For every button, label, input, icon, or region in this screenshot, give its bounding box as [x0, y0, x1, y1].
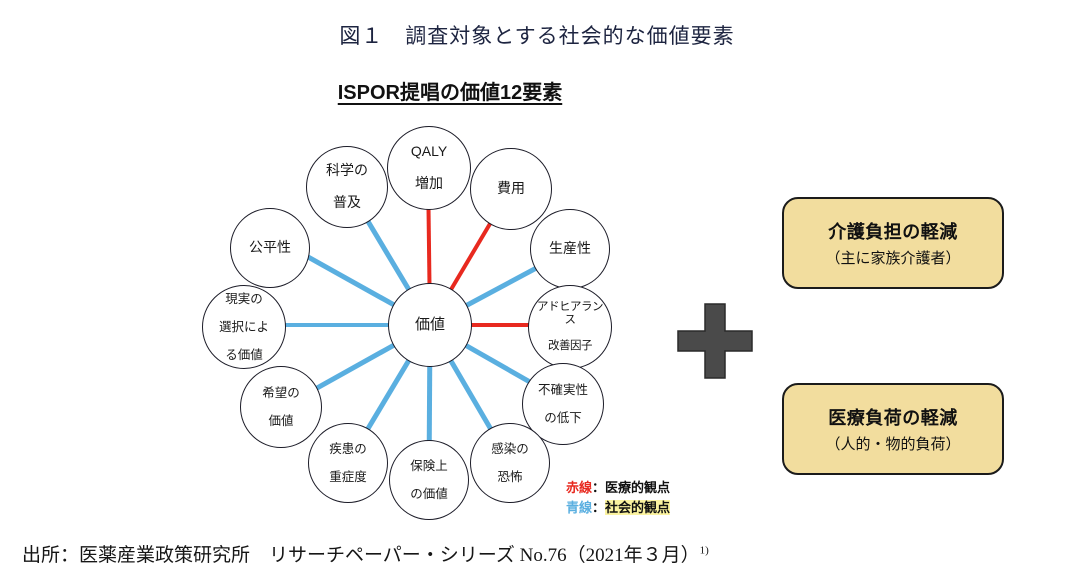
node-value[interactable]: 価値 [388, 283, 472, 367]
node-scientific-spillover[interactable]: 科学の普及 [306, 146, 388, 228]
legend-value-red: 医療的観点 [605, 480, 670, 495]
node-fear-of-infection[interactable]: 感染の恐怖 [470, 423, 550, 503]
legend-value-blue: 社会的観点 [605, 500, 670, 515]
node-disease-severity[interactable]: 疾患の重症度 [308, 423, 388, 503]
node-cost[interactable]: 費用 [470, 148, 552, 230]
node-real-option-value[interactable]: 現実の選択による価値 [202, 285, 286, 369]
node-qaly[interactable]: QALY増加 [387, 126, 471, 210]
benefit-box-medical-burden[interactable]: 医療負荷の軽減 （人的・物的負荷） [782, 383, 1004, 475]
legend-row-red: 赤線：医療的観点 [566, 478, 670, 498]
node-equity[interactable]: 公平性 [230, 208, 310, 288]
source-footnote-marker: 1) [700, 545, 709, 557]
source-note: 出所：医薬産業政策研究所 リサーチペーパー・シリーズ No.76（2021年３月… [22, 540, 709, 567]
source-text: 出所：医薬産業政策研究所 リサーチペーパー・シリーズ No.76（2021年３月… [22, 545, 700, 566]
benefit-subtitle-medical-burden: （人的・物的負荷） [825, 433, 960, 454]
node-adherence[interactable]: アドヒアランス改善因子 [528, 285, 612, 369]
node-value-of-hope[interactable]: 希望の価値 [240, 366, 322, 448]
value-network-diagram: 価値 QALY増加 費用 生産性 アドヒアランス改善因子 不確実性の低下 感染の… [180, 110, 660, 530]
node-insurance-value[interactable]: 保険上の価値 [389, 440, 469, 520]
benefit-title-caregiver: 介護負担の軽減 [828, 218, 958, 244]
benefit-title-medical-burden: 医療負荷の軽減 [828, 404, 958, 430]
benefit-subtitle-caregiver: （主に家族介護者） [825, 247, 960, 268]
plus-icon [676, 302, 754, 380]
legend-separator-red: ： [592, 480, 605, 495]
legend: 赤線：医療的観点 青線：社会的観点 [566, 478, 670, 518]
benefit-box-caregiver[interactable]: 介護負担の軽減 （主に家族介護者） [782, 197, 1004, 289]
legend-key-red: 赤線 [566, 480, 592, 495]
node-productivity[interactable]: 生産性 [530, 209, 610, 289]
legend-row-blue: 青線：社会的観点 [566, 498, 670, 518]
legend-key-blue: 青線 [566, 500, 592, 515]
chart-subtitle: ISPOR提唱の価値12要素 [300, 76, 600, 105]
page-title: 図１ 調査対象とする社会的な価値要素 [0, 20, 1074, 50]
legend-separator-blue: ： [592, 500, 605, 515]
